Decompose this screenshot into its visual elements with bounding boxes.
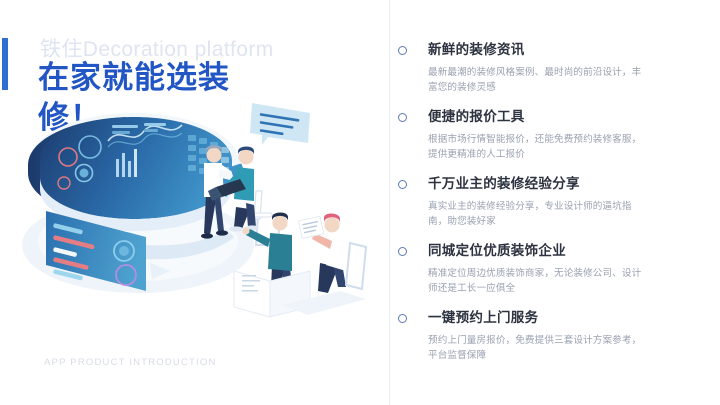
circle-outline-icon bbox=[398, 180, 407, 189]
circle-outline-icon bbox=[398, 46, 407, 55]
feature-title: 便捷的报价工具 bbox=[428, 109, 698, 126]
column-divider bbox=[389, 0, 390, 405]
feature-title: 新鲜的装修资讯 bbox=[428, 42, 698, 59]
list-item[interactable]: 同城定位优质装饰企业 精准定位周边优质装饰商家，无论装修公司、设计师还是工长一应… bbox=[398, 243, 698, 297]
feature-title: 一键预约上门服务 bbox=[428, 310, 698, 327]
chat-bubble bbox=[250, 103, 310, 145]
footer-label: APP PRODUCT INTRODUCTION bbox=[44, 357, 217, 368]
feature-description: 最新最潮的装修风格案例、最时尚的前沿设计，丰富您的装修灵感 bbox=[428, 65, 646, 96]
slide-canvas: 铁住Decoration platform 在家就能选装修！ APP PRODU… bbox=[0, 0, 720, 405]
isometric-dashboard-illustration bbox=[20, 95, 370, 325]
feature-description: 精准定位周边优质装饰商家，无论装修公司、设计师还是工长一应俱全 bbox=[428, 266, 646, 297]
feature-title: 千万业主的装修经验分享 bbox=[428, 176, 698, 193]
circle-outline-icon bbox=[398, 113, 407, 122]
feature-description: 真实业主的装修经验分享，专业设计师的逼坑指南，助您装好家 bbox=[428, 199, 646, 230]
list-item[interactable]: 便捷的报价工具 根据市场行情智能报价，还能免费预约装修客服，提供更精准的人工报价 bbox=[398, 109, 698, 163]
circle-outline-icon bbox=[398, 247, 407, 256]
feature-list: 新鲜的装修资讯 最新最潮的装修风格案例、最时尚的前沿设计，丰富您的装修灵感 便捷… bbox=[398, 42, 698, 364]
circle-outline-icon bbox=[398, 314, 407, 323]
list-item[interactable]: 一键预约上门服务 预约上门量房报价，免费提供三套设计方案参考，平台监督保障 bbox=[398, 310, 698, 364]
title-accent-bar bbox=[2, 38, 8, 90]
feature-description: 根据市场行情智能报价，还能免费预约装修客服，提供更精准的人工报价 bbox=[428, 132, 646, 163]
list-item[interactable]: 新鲜的装修资讯 最新最潮的装修风格案例、最时尚的前沿设计，丰富您的装修灵感 bbox=[398, 42, 698, 96]
feature-title: 同城定位优质装饰企业 bbox=[428, 243, 698, 260]
list-item[interactable]: 千万业主的装修经验分享 真实业主的装修经验分享，专业设计师的逼坑指南，助您装好家 bbox=[398, 176, 698, 230]
feature-description: 预约上门量房报价，免费提供三套设计方案参考，平台监督保障 bbox=[428, 333, 646, 364]
